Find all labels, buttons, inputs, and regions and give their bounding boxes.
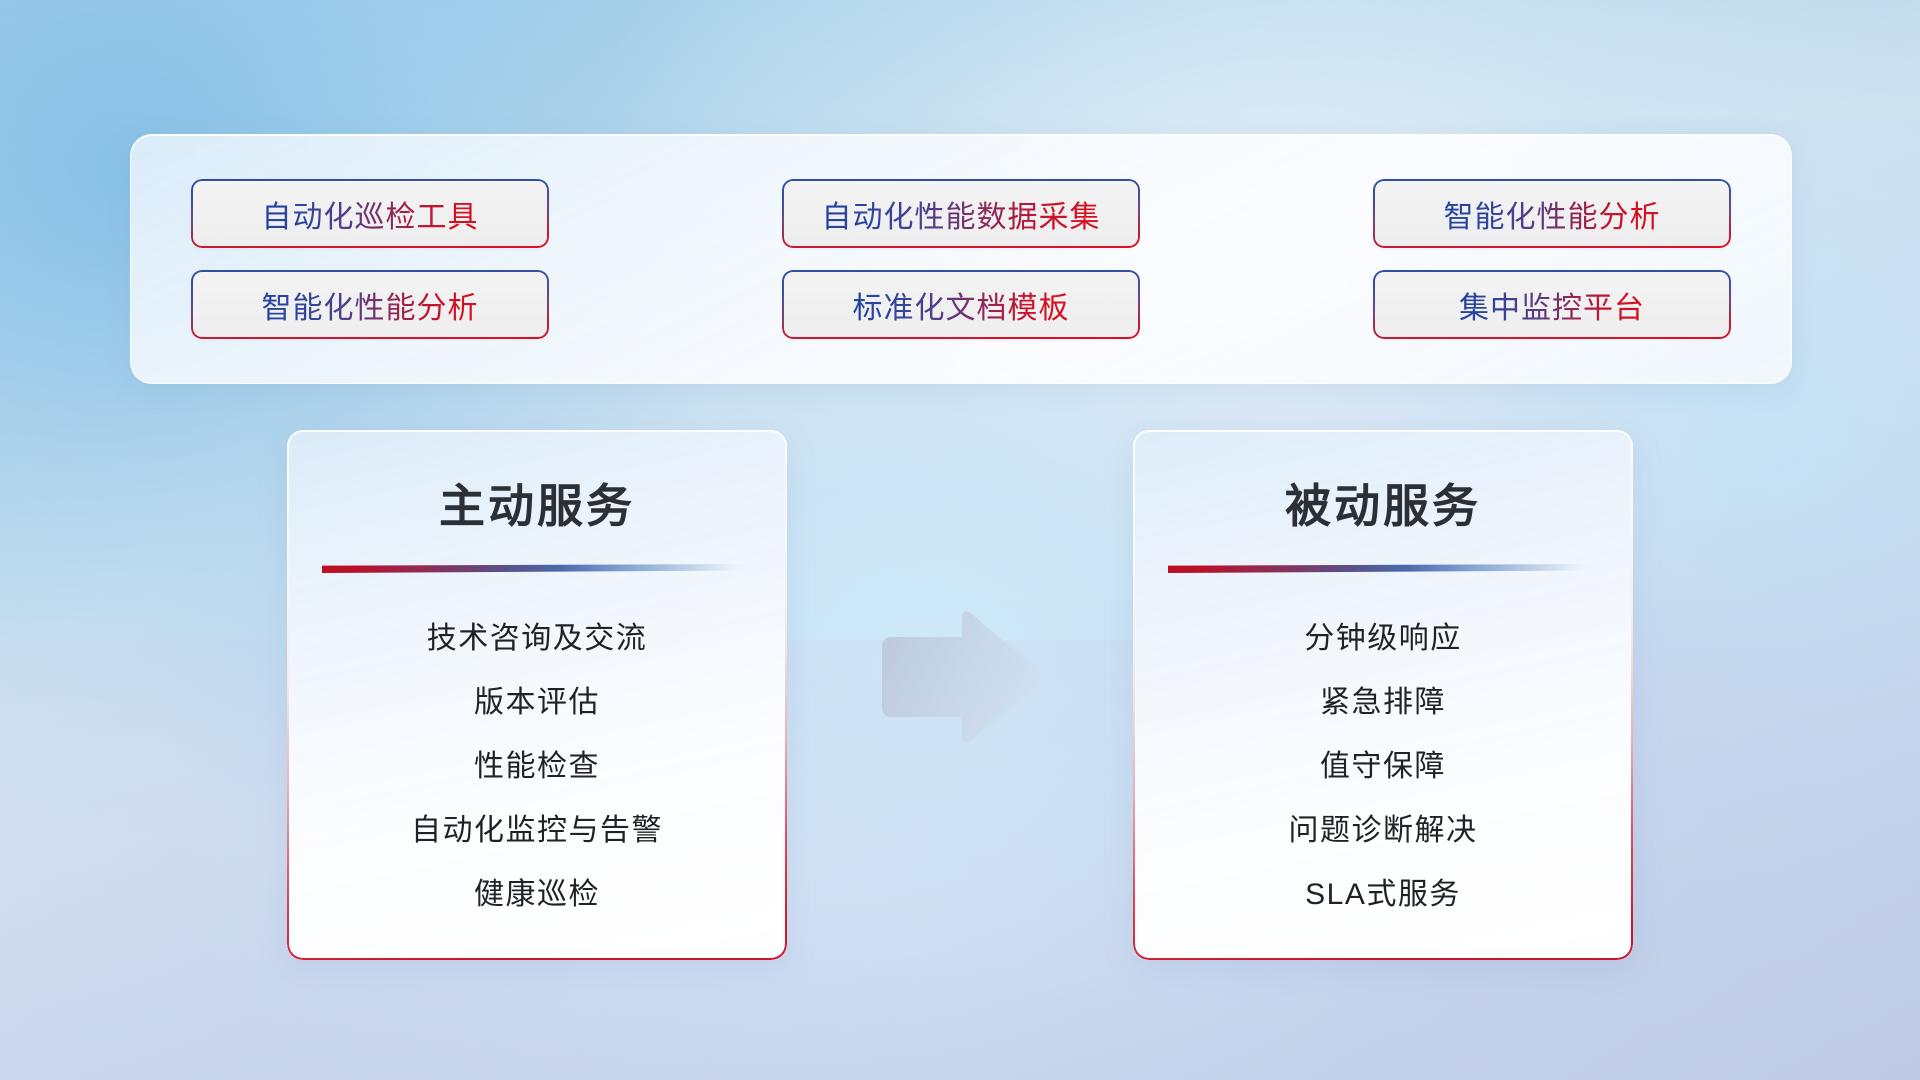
service-card-proactive: 主动服务 技术咨询及交流 版本评估 性能检查 自动化监控与告警 健康巡检 <box>287 430 787 960</box>
capabilities-row-2: 智能化性能分析 标准化文档模板 集中监控平台 <box>191 270 1731 339</box>
capability-tag-label: 智能化性能分析 <box>1444 192 1661 236</box>
service-list-item: 性能检查 <box>287 735 787 799</box>
service-list-item: 问题诊断解决 <box>1133 799 1633 863</box>
capability-tag-label: 标准化文档模板 <box>853 283 1070 327</box>
service-list-item: 分钟级响应 <box>1133 607 1633 671</box>
title-divider <box>1168 564 1598 573</box>
service-item-list: 分钟级响应 紧急排障 值守保障 问题诊断解决 SLA式服务 <box>1133 607 1633 927</box>
capability-tag-intelligent-performance-analysis-top[interactable]: 智能化性能分析 <box>1373 179 1731 248</box>
title-divider <box>322 564 752 573</box>
service-list-item: 版本评估 <box>287 671 787 735</box>
capability-tag-label: 智能化性能分析 <box>262 283 479 327</box>
service-list-item: 技术咨询及交流 <box>287 607 787 671</box>
divider-gradient-bar <box>322 564 752 573</box>
service-item-list: 技术咨询及交流 版本评估 性能检查 自动化监控与告警 健康巡检 <box>287 607 787 927</box>
capability-tag-centralized-monitoring-platform[interactable]: 集中监控平台 <box>1373 270 1731 339</box>
capability-tag-standardized-document-template[interactable]: 标准化文档模板 <box>782 270 1140 339</box>
capability-tag-label: 自动化巡检工具 <box>262 192 479 236</box>
slide-canvas: 自动化巡检工具 自动化性能数据采集 智能化性能分析 智能化性能分析 标准化文档模… <box>0 0 1920 1080</box>
service-list-item: 紧急排障 <box>1133 671 1633 735</box>
capability-tag-label: 自动化性能数据采集 <box>822 192 1101 236</box>
service-list-item: 自动化监控与告警 <box>287 799 787 863</box>
capability-tag-automated-performance-data-collection[interactable]: 自动化性能数据采集 <box>782 179 1140 248</box>
service-card-title: 主动服务 <box>287 470 787 536</box>
service-list-item: SLA式服务 <box>1133 863 1633 927</box>
service-list-item: 值守保障 <box>1133 735 1633 799</box>
capability-tag-intelligent-performance-analysis[interactable]: 智能化性能分析 <box>191 270 549 339</box>
divider-gradient-bar <box>1168 564 1598 573</box>
service-card-reactive: 被动服务 分钟级响应 紧急排障 值守保障 问题诊断解决 SLA式服务 <box>1133 430 1633 960</box>
capability-tag-label: 集中监控平台 <box>1459 283 1645 327</box>
capabilities-row-1: 自动化巡检工具 自动化性能数据采集 智能化性能分析 <box>191 179 1731 248</box>
arrow-right-icon <box>878 605 1043 750</box>
capability-tag-automated-inspection-tool[interactable]: 自动化巡检工具 <box>191 179 549 248</box>
capabilities-panel: 自动化巡检工具 自动化性能数据采集 智能化性能分析 智能化性能分析 标准化文档模… <box>130 134 1792 384</box>
service-list-item: 健康巡检 <box>287 863 787 927</box>
service-card-title: 被动服务 <box>1133 470 1633 536</box>
